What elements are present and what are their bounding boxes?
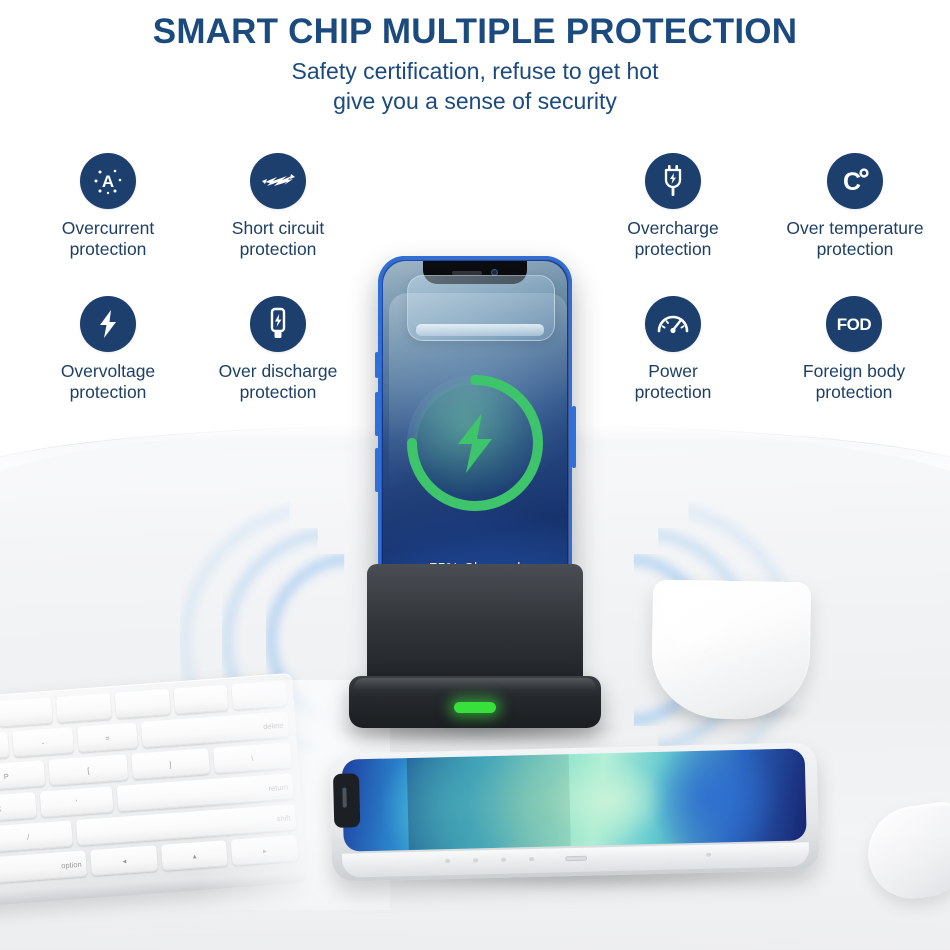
feature-line-1: Power — [648, 361, 698, 381]
key-bracket-left: [ — [49, 754, 128, 786]
feature-overcurrent: A Overcurrent protection — [33, 153, 183, 259]
over-discharge-icon — [250, 296, 306, 352]
flat-phone-notch — [333, 773, 360, 828]
key-delete: delete — [141, 711, 289, 748]
feature-label: Overvoltage protection — [33, 361, 183, 402]
infographic-canvas: SMART CHIP MULTIPLE PROTECTION Safety ce… — [0, 0, 950, 950]
wireless-mouse — [651, 580, 811, 721]
overcharge-plug-icon — [645, 153, 701, 209]
feature-line-1: Over temperature — [786, 218, 923, 238]
feature-line-1: Short circuit — [232, 218, 324, 238]
charging-led — [454, 702, 496, 713]
feature-line-2: protection — [33, 382, 183, 403]
key-quote: ' — [40, 786, 113, 817]
page-subtitle: Safety certification, refuse to get hot … — [0, 57, 950, 116]
key-equals: = — [77, 722, 139, 752]
key-backslash: \ — [213, 742, 292, 774]
key — [173, 685, 228, 715]
feature-label: Overcurrent protection — [33, 218, 183, 259]
short-circuit-icon — [250, 153, 306, 209]
mouse-highlight — [662, 588, 781, 662]
feature-line-2: protection — [598, 239, 748, 260]
feature-line-2: protection — [598, 382, 748, 403]
key — [232, 680, 287, 710]
feature-label: Short circuit protection — [203, 218, 353, 259]
stand-cradle — [367, 564, 583, 684]
feature-line-2: protection — [766, 239, 944, 260]
overvoltage-icon — [80, 296, 136, 352]
feature-line-2: protection — [203, 239, 353, 260]
svg-text:FOD: FOD — [837, 315, 872, 334]
phone-volume-up-button[interactable] — [375, 392, 379, 436]
feature-line-1: Over discharge — [219, 361, 338, 381]
key-p: P — [0, 760, 46, 792]
key-0: 0 — [0, 732, 9, 762]
feature-label: Over discharge protection — [203, 361, 353, 402]
svg-text:A: A — [102, 172, 114, 191]
feature-short-circuit: Short circuit protection — [203, 153, 353, 259]
feature-line-1: Foreign body — [803, 361, 905, 381]
feature-foreign-body: FOD Foreign body protection — [768, 296, 940, 402]
feature-label: Power protection — [598, 361, 748, 402]
feature-line-2: protection — [768, 382, 940, 403]
feature-line-2: protection — [203, 382, 353, 403]
page-title: SMART CHIP MULTIPLE PROTECTION — [0, 12, 950, 51]
wireless-charging-stand: 75% Charged — [349, 253, 601, 728]
scene-vignette — [0, 830, 950, 950]
feature-overcharge: Overcharge protection — [598, 153, 748, 259]
feature-line-1: Overvoltage — [61, 361, 155, 381]
stand-base — [349, 676, 601, 728]
power-gauge-icon — [645, 296, 701, 352]
feature-power: Power protection — [598, 296, 748, 402]
phone-mute-switch[interactable] — [375, 352, 379, 378]
feature-label: Overcharge protection — [598, 218, 748, 259]
feature-line-1: Overcharge — [627, 218, 718, 238]
svg-text:C: C — [843, 168, 861, 196]
key — [115, 689, 170, 719]
header-block: SMART CHIP MULTIPLE PROTECTION Safety ce… — [0, 12, 950, 116]
feature-over-discharge: Over discharge protection — [203, 296, 353, 402]
key — [0, 698, 53, 728]
feature-line-2: protection — [33, 239, 183, 260]
feature-label: Foreign body protection — [768, 361, 940, 402]
key-semicolon: ; — [0, 792, 37, 823]
foreign-body-icon: FOD — [826, 296, 882, 352]
phone-volume-down-button[interactable] — [375, 448, 379, 492]
key — [56, 693, 111, 723]
feature-label: Over temperature protection — [766, 218, 944, 259]
key-minus: - — [12, 727, 74, 757]
feature-overvoltage: Overvoltage protection — [33, 296, 183, 402]
overcurrent-icon: A — [80, 153, 136, 209]
key-bracket-right: ] — [131, 748, 210, 780]
subtitle-line-2: give you a sense of security — [0, 87, 950, 116]
over-temperature-icon: C — [827, 153, 883, 209]
feature-over-temperature: C Over temperature protection — [766, 153, 944, 259]
phone-power-button[interactable] — [572, 406, 576, 468]
subtitle-line-1: Safety certification, refuse to get hot — [0, 57, 950, 86]
feature-line-1: Overcurrent — [62, 218, 154, 238]
